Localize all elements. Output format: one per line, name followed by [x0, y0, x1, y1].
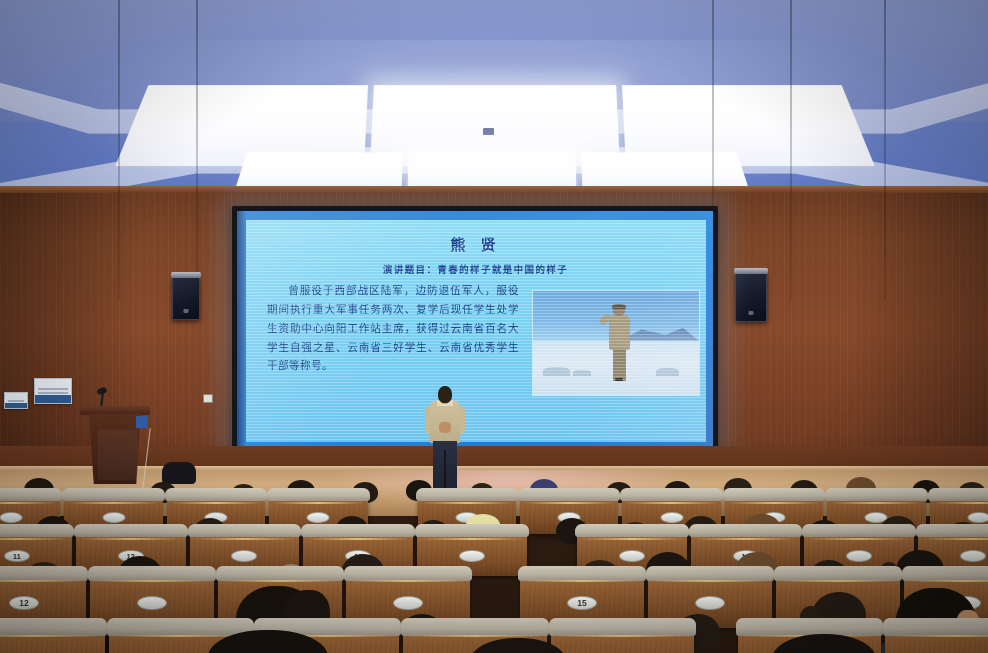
- seat-cushion: [518, 566, 646, 581]
- photo-soldier-saluting: [606, 306, 633, 383]
- seat-trim: [581, 538, 683, 540]
- ceiling-vent-icon: [483, 128, 494, 135]
- seat-trim: [422, 502, 512, 504]
- wall-sign-small: [4, 392, 28, 409]
- seat-trim: [808, 538, 910, 540]
- seat-trim: [922, 538, 988, 540]
- seat-cushion: [723, 488, 825, 501]
- seat-cushion: [0, 488, 62, 501]
- seat-cushion: [415, 524, 529, 537]
- seat-cushion: [902, 566, 988, 581]
- audience-head-foreground: [470, 638, 566, 653]
- seat-trim: [729, 502, 819, 504]
- soldier-legs: [613, 349, 626, 381]
- seat-trim: [695, 538, 797, 540]
- audience-foreground: [0, 622, 988, 653]
- slide-left-edge: [237, 211, 246, 450]
- seat-cushion: [518, 488, 620, 501]
- seat-trim: [94, 580, 210, 582]
- seat-trim: [652, 580, 768, 582]
- seat-trim: [421, 538, 523, 540]
- sign-line: [38, 388, 68, 390]
- seat-cushion: [774, 566, 902, 581]
- presentation-slide: 熊 贤 演讲题目：青春的样子就是中国的样子 曾服役于西部战区陆军，边防退伍军人，…: [237, 211, 713, 450]
- soldier-cap: [612, 304, 626, 309]
- seat-cushion: [74, 524, 188, 537]
- seat-trim: [0, 580, 82, 582]
- seat-trim: [934, 502, 988, 504]
- seat-cushion: [916, 524, 988, 537]
- seat-trim: [68, 502, 158, 504]
- projection-screen[interactable]: 熊 贤 演讲题目：青春的样子就是中国的样子 曾服役于西部战区陆军，边防退伍军人，…: [232, 206, 718, 455]
- seat-cushion: [188, 524, 302, 537]
- seat-cushion: [267, 488, 369, 501]
- seat-cushion: [216, 566, 344, 581]
- seat-trim: [0, 538, 68, 540]
- soldier-boots: [615, 378, 623, 381]
- wall-sign-large: [34, 378, 72, 404]
- seat-cushion: [0, 566, 88, 581]
- lectern-top: [80, 406, 150, 415]
- seat-trim: [307, 538, 409, 540]
- photo-bush: [573, 370, 591, 376]
- sign-band: [5, 403, 27, 408]
- seat-cushion: [646, 566, 774, 581]
- wall-seam: [790, 0, 792, 300]
- wall-outlet[interactable]: [203, 394, 213, 403]
- seat-cushion: [575, 524, 689, 537]
- seat-trim: [780, 580, 896, 582]
- seat-cushion: [301, 524, 415, 537]
- seat-cushion: [165, 488, 267, 501]
- wall-seam: [884, 0, 886, 300]
- seat-cushion: [0, 524, 74, 537]
- soldier-torso: [609, 315, 630, 350]
- seat-trim: [222, 580, 338, 582]
- auditorium-photo: 熊 贤 演讲题目：青春的样子就是中国的样子 曾服役于西部战区陆军，边防退伍军人，…: [0, 0, 988, 653]
- seat-cushion: [689, 524, 803, 537]
- seat-cushion: [620, 488, 722, 501]
- photo-bush: [543, 367, 570, 376]
- seat-trim: [171, 502, 261, 504]
- audience-head-foreground: [772, 634, 876, 653]
- wall-top-trim: [0, 186, 988, 193]
- audience-head-foreground: [208, 630, 328, 653]
- speaker-bracket: [171, 272, 201, 278]
- seat-trim: [524, 502, 614, 504]
- seat-trim: [80, 538, 182, 540]
- seat-cushion: [88, 566, 216, 581]
- seat-cushion: [825, 488, 927, 501]
- wall-seam: [118, 0, 120, 300]
- slide-speaker-name: 熊 贤: [245, 234, 706, 255]
- audience-seating: 11 12 13 16 12 13: [0, 472, 988, 653]
- presenter-hands-microphone: [439, 422, 451, 433]
- wall-speaker-left: [172, 276, 200, 320]
- seat-trim: [524, 580, 640, 582]
- seat-trim: [194, 538, 296, 540]
- lectern-display: [136, 416, 147, 428]
- seat-cushion: [416, 488, 518, 501]
- slide-content-area: 熊 贤 演讲题目：青春的样子就是中国的样子 曾服役于西部战区陆军，边防退伍军人，…: [245, 220, 706, 442]
- sign-band: [35, 395, 71, 403]
- sign-line: [38, 392, 68, 394]
- seat-trim: [831, 502, 921, 504]
- wall-seam: [196, 0, 198, 300]
- seat-cushion: [344, 566, 472, 581]
- seat-trim: [350, 580, 466, 582]
- wall-speaker-right: [735, 272, 767, 322]
- seat-trim: [908, 580, 988, 582]
- seat-cushion: [802, 524, 916, 537]
- slide-body-text: 曾服役于西部战区陆军，边防退伍军人，服役期间执行重大军事任务两次、复学后现任学生…: [267, 282, 519, 376]
- seat-trim: [626, 502, 716, 504]
- speaker-bracket: [734, 268, 768, 274]
- seat-cushion: [62, 488, 164, 501]
- seat-cushion: [928, 488, 988, 501]
- slide-subtitle: 演讲题目：青春的样子就是中国的样子: [245, 262, 706, 276]
- speaker-grille-icon: [184, 309, 189, 313]
- sign-line: [8, 400, 24, 402]
- seat-trim: [273, 502, 363, 504]
- speaker-grille-icon: [749, 311, 754, 315]
- slide-photo-soldier: [532, 290, 700, 396]
- photo-bush: [656, 368, 679, 376]
- seat-trim: [0, 502, 56, 504]
- presenter-head: [438, 386, 451, 403]
